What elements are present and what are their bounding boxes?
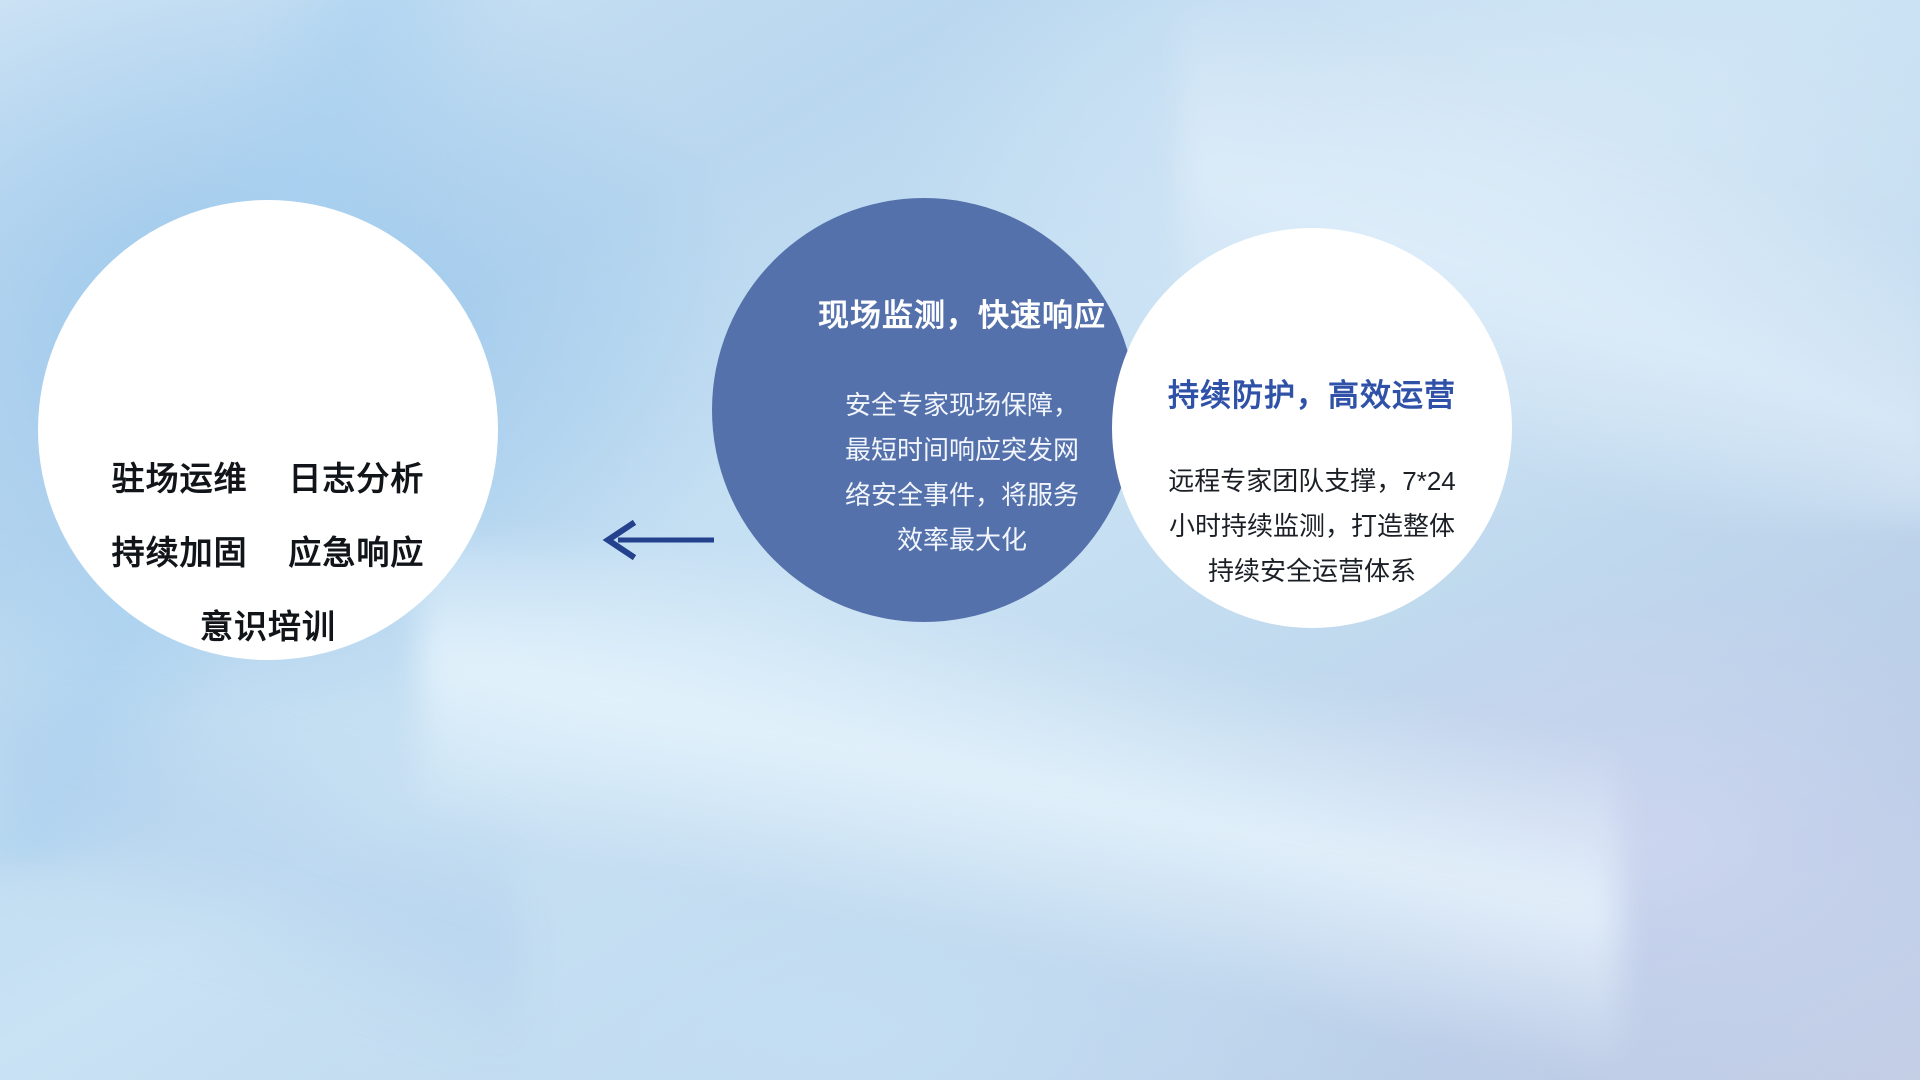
capability-line-2: 持续加固 应急响应 (38, 516, 498, 590)
capability-line-3: 意识培训 (38, 590, 498, 664)
capability-line-1: 驻场运维 日志分析 (38, 442, 498, 516)
node-continuous-body-line-1: 远程专家团队支撑，7*24 (1122, 459, 1502, 504)
node-continuous-body-line-3: 持续安全运营体系 (1122, 549, 1502, 594)
node-continuous-body-line-2: 小时持续监测，打造整体 (1122, 504, 1502, 549)
background-light-streak-bottom-left (0, 700, 520, 1080)
node-continuous-body: 远程专家团队支撑，7*24 小时持续监测，打造整体 持续安全运营体系 (1122, 459, 1502, 594)
diagram-canvas: 驻场运维 日志分析 持续加固 应急响应 意识培训 现场监测，快速响应 安全专家现… (0, 0, 1920, 1080)
node-onsite-content: 现场监测，快速响应 安全专家现场保障， 最短时间响应突发网 络安全事件，将服务 … (712, 198, 1136, 622)
capability-keyword-list: 驻场运维 日志分析 持续加固 应急响应 意识培训 (38, 442, 498, 664)
arrow-left-icon (596, 518, 716, 562)
node-onsite-body-line-2: 最短时间响应突发网 (812, 428, 1112, 473)
node-continuous-title: 持续防护，高效运营 (1168, 370, 1456, 415)
node-onsite-circle[interactable]: 现场监测，快速响应 安全专家现场保障， 最短时间响应突发网 络安全事件，将服务 … (712, 198, 1136, 622)
node-onsite-body: 安全专家现场保障， 最短时间响应突发网 络安全事件，将服务 效率最大化 (812, 383, 1112, 563)
node-capabilities-circle[interactable]: 驻场运维 日志分析 持续加固 应急响应 意识培训 (38, 200, 498, 660)
node-onsite-title: 现场监测，快速响应 (818, 290, 1106, 335)
node-continuous-circle[interactable]: 持续防护，高效运营 远程专家团队支撑，7*24 小时持续监测，打造整体 持续安全… (1112, 228, 1512, 628)
node-onsite-body-line-1: 安全专家现场保障， (812, 383, 1112, 428)
node-onsite-body-line-3: 络安全事件，将服务 (812, 473, 1112, 518)
node-onsite-body-line-4: 效率最大化 (812, 518, 1112, 563)
